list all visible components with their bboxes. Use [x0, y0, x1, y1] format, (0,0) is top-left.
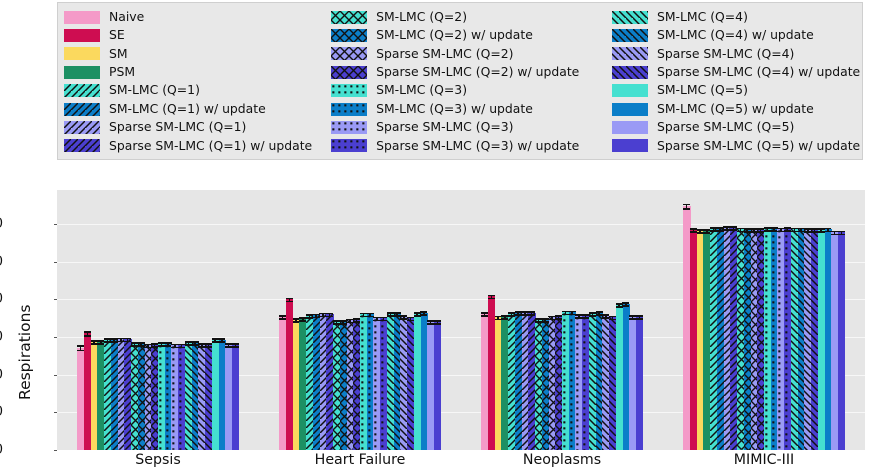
legend-swatch — [612, 11, 648, 24]
legend-label: Sparse SM-LMC (Q=3) — [376, 121, 513, 133]
error-bar-cap — [84, 335, 91, 337]
legend-label: SM-LMC (Q=4) — [657, 11, 748, 23]
legend-swatch — [612, 29, 648, 42]
legend-label: Naive — [109, 11, 144, 23]
y-axis-label: Respirations — [16, 305, 34, 400]
legend-swatch — [64, 139, 100, 152]
y-tick-mark — [54, 450, 57, 451]
legend-column-0: NaiveSESMPSMSM-LMC (Q=1)SM-LMC (Q=1) w/ … — [64, 8, 331, 155]
y-tick-label: 1.50 — [0, 329, 3, 344]
legend-item[interactable]: Sparse SM-LMC (Q=1) — [64, 118, 331, 136]
error-bar-cap — [683, 204, 690, 206]
legend-swatch — [612, 121, 648, 134]
error-bar-cap — [838, 231, 845, 233]
legend-swatch — [331, 103, 367, 116]
legend-item[interactable]: SM-LMC (Q=5) w/ update — [612, 100, 858, 118]
error-bar-cap — [636, 318, 643, 320]
legend-column-1: SM-LMC (Q=2)SM-LMC (Q=2) w/ updateSparse… — [331, 8, 612, 155]
legend-column-2: SM-LMC (Q=4)SM-LMC (Q=4) w/ updateSparse… — [612, 8, 858, 155]
error-bar-cap — [232, 346, 239, 348]
legend-label: PSM — [109, 66, 135, 78]
error-bar-cap — [596, 311, 603, 313]
legend-item[interactable]: SM — [64, 45, 331, 63]
error-bar-cap — [218, 338, 225, 340]
legend-swatch — [64, 103, 100, 116]
legend-item[interactable]: SM-LMC (Q=1) — [64, 82, 331, 100]
legend-label: SM-LMC (Q=4) w/ update — [657, 29, 814, 41]
legend-label: Sparse SM-LMC (Q=5) — [657, 121, 794, 133]
legend-swatch — [331, 47, 367, 60]
legend-label: Sparse SM-LMC (Q=1) w/ update — [109, 140, 312, 152]
y-tick-label: 1.00 — [0, 367, 3, 382]
error-bar-cap — [434, 320, 441, 322]
error-bar-cap — [434, 323, 441, 325]
x-tick-label: Neoplasms — [523, 452, 601, 468]
gridline — [57, 224, 865, 225]
error-bar-cap — [528, 311, 535, 313]
legend-label: SM — [109, 48, 128, 60]
legend-label: Sparse SM-LMC (Q=1) — [109, 121, 246, 133]
error-bar-cap — [622, 305, 629, 307]
error-bar-cap — [824, 228, 831, 230]
y-tick-mark — [54, 262, 57, 263]
legend-swatch — [331, 84, 367, 97]
error-bar-cap — [326, 313, 333, 315]
legend-item[interactable]: Naive — [64, 8, 331, 26]
legend-label: SM-LMC (Q=5) — [657, 84, 748, 96]
legend-item[interactable]: Sparse SM-LMC (Q=1) w/ update — [64, 137, 331, 155]
error-bar-cap — [622, 302, 629, 304]
error-bar-cap — [286, 301, 293, 303]
error-bar-cap — [286, 298, 293, 300]
error-bar-cap — [838, 234, 845, 236]
legend-swatch — [612, 139, 648, 152]
y-tick-label: 0.00 — [0, 443, 3, 458]
legend-item[interactable]: SM-LMC (Q=5) — [612, 82, 858, 100]
legend-swatch — [64, 121, 100, 134]
bar[interactable] — [434, 322, 441, 450]
error-bar-cap — [569, 311, 576, 313]
y-tick-mark — [54, 337, 57, 338]
x-tick-label: MIMIC-III — [734, 452, 794, 468]
legend-item[interactable]: Sparse SM-LMC (Q=5) — [612, 118, 858, 136]
legend-swatch — [331, 66, 367, 79]
legend-item[interactable]: SE — [64, 26, 331, 44]
y-tick-mark — [54, 412, 57, 413]
legend-item[interactable]: Sparse SM-LMC (Q=3) w/ update — [331, 137, 612, 155]
error-bar-cap — [124, 338, 131, 340]
legend-label: SM-LMC (Q=1) w/ update — [109, 103, 266, 115]
legend-label: SM-LMC (Q=2) w/ update — [376, 29, 533, 41]
bar-fill — [434, 322, 441, 450]
legend-swatch — [331, 29, 367, 42]
legend-label: Sparse SM-LMC (Q=5) w/ update — [657, 140, 860, 152]
bar[interactable] — [838, 232, 845, 450]
legend-label: Sparse SM-LMC (Q=4) w/ update — [657, 66, 860, 78]
error-bar-cap — [683, 208, 690, 210]
legend-label: SM-LMC (Q=3) w/ update — [376, 103, 533, 115]
y-tick-mark — [54, 224, 57, 225]
legend-item[interactable]: SM-LMC (Q=2) w/ update — [331, 26, 612, 44]
legend-label: SM-LMC (Q=3) — [376, 84, 467, 96]
legend-item[interactable]: Sparse SM-LMC (Q=2) — [331, 45, 612, 63]
y-tick-label: 0.50 — [0, 405, 3, 420]
legend-swatch — [64, 29, 100, 42]
legend-item[interactable]: SM-LMC (Q=3) — [331, 82, 612, 100]
error-bar-cap — [326, 316, 333, 318]
legend-label: Sparse SM-LMC (Q=2) — [376, 48, 513, 60]
plot-area — [57, 190, 865, 450]
bar-fill — [838, 232, 845, 450]
legend-swatch — [612, 103, 648, 116]
legend-item[interactable]: PSM — [64, 63, 331, 81]
y-tick-mark — [54, 299, 57, 300]
error-bar-cap — [84, 331, 91, 333]
bar-fill — [232, 345, 239, 451]
bar-fill — [636, 317, 643, 450]
bar[interactable] — [232, 345, 239, 451]
legend-swatch — [64, 47, 100, 60]
bar[interactable] — [636, 317, 643, 450]
legend-swatch — [331, 11, 367, 24]
legend-item[interactable]: Sparse SM-LMC (Q=2) w/ update — [331, 63, 612, 81]
legend-swatch — [64, 84, 100, 97]
legend-label: Sparse SM-LMC (Q=2) w/ update — [376, 66, 579, 78]
error-bar-cap — [232, 343, 239, 345]
legend-swatch — [64, 11, 100, 24]
legend-item[interactable]: SM-LMC (Q=3) w/ update — [331, 100, 612, 118]
error-bar-cap — [394, 312, 401, 314]
legend-label: Sparse SM-LMC (Q=4) — [657, 48, 794, 60]
legend-item[interactable]: SM-LMC (Q=4) w/ update — [612, 26, 858, 44]
legend-item[interactable]: Sparse SM-LMC (Q=4) — [612, 45, 858, 63]
y-tick-label: 2.50 — [0, 254, 3, 269]
error-bar-cap — [488, 298, 495, 300]
legend-label: SM-LMC (Q=2) — [376, 11, 467, 23]
legend-swatch — [612, 47, 648, 60]
legend-label: SM-LMC (Q=5) w/ update — [657, 103, 814, 115]
legend-swatch — [612, 84, 648, 97]
y-tick-label: 3.00 — [0, 216, 3, 231]
legend-swatch — [331, 139, 367, 152]
legend-item[interactable]: SM-LMC (Q=4) — [612, 8, 858, 26]
error-bar-cap — [636, 315, 643, 317]
x-tick-label: Heart Failure — [315, 452, 406, 468]
x-tick-label: Sepsis — [135, 452, 180, 468]
legend-label: SE — [109, 29, 125, 41]
legend-swatch — [64, 66, 100, 79]
error-bar-cap — [367, 313, 374, 315]
y-tick-label: 2.00 — [0, 292, 3, 307]
error-bar-cap — [420, 314, 427, 316]
legend-swatch — [612, 66, 648, 79]
error-bar-cap — [488, 295, 495, 297]
error-bar-cap — [420, 311, 427, 313]
legend-item[interactable]: Sparse SM-LMC (Q=4) w/ update — [612, 63, 858, 81]
legend-swatch — [331, 121, 367, 134]
chart-legend: NaiveSESMPSMSM-LMC (Q=1)SM-LMC (Q=1) w/ … — [57, 2, 863, 160]
legend-label: SM-LMC (Q=1) — [109, 84, 200, 96]
legend-item[interactable]: SM-LMC (Q=1) w/ update — [64, 100, 331, 118]
y-tick-mark — [54, 375, 57, 376]
legend-label: Sparse SM-LMC (Q=3) w/ update — [376, 140, 579, 152]
error-bar-cap — [528, 314, 535, 316]
legend-item[interactable]: SM-LMC (Q=2) — [331, 8, 612, 26]
legend-item[interactable]: Sparse SM-LMC (Q=5) w/ update — [612, 137, 858, 155]
legend-item[interactable]: Sparse SM-LMC (Q=3) — [331, 118, 612, 136]
